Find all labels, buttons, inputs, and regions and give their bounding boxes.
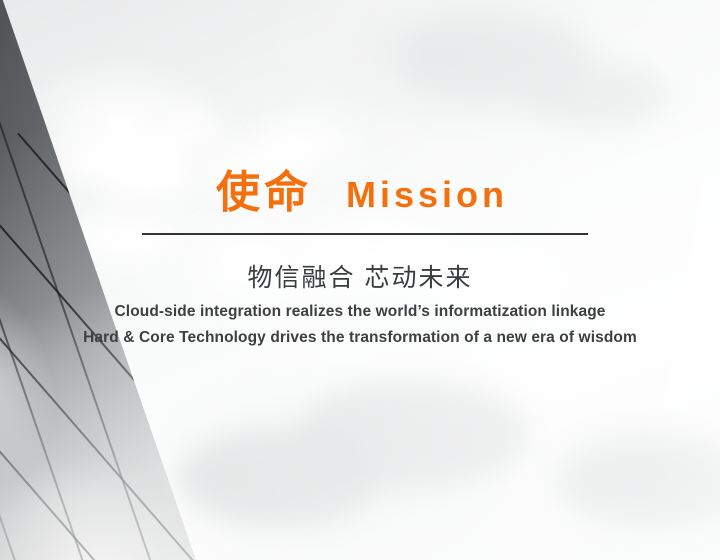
subtitle-chinese: 物信融合 芯动未来 xyxy=(0,258,720,294)
slide-content: 使命 Mission 物信融合 芯动未来 Cloud-side integrat… xyxy=(0,0,720,560)
tagline-line-1: Cloud-side integration realizes the worl… xyxy=(0,303,720,321)
title-english: Mission xyxy=(346,177,508,213)
title-divider xyxy=(142,233,588,235)
tagline-line-2: Hard & Core Technology drives the transf… xyxy=(0,329,720,347)
title-chinese: 使命 xyxy=(216,171,312,215)
mission-slide: 使命 Mission 物信融合 芯动未来 Cloud-side integrat… xyxy=(0,0,720,560)
page-title: 使命 Mission xyxy=(216,171,508,215)
